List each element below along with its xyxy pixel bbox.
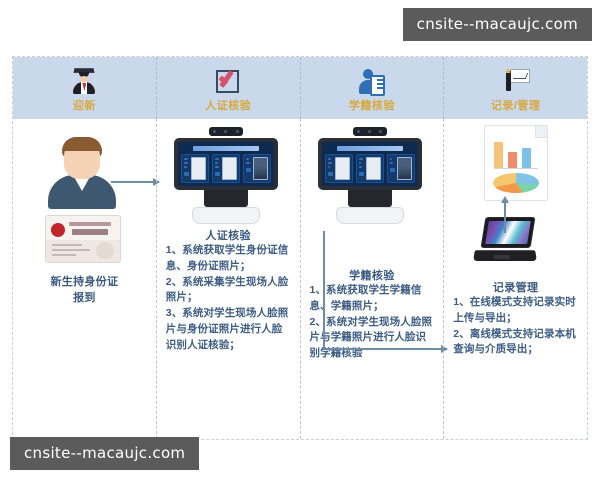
kiosk-screen bbox=[322, 142, 418, 186]
identity-verify-item: 3、系统对学生现场人脸照片与身份证照片进行人脸识别人证核验； bbox=[166, 306, 292, 353]
id-card bbox=[45, 215, 121, 263]
arrow-enrollment-to-record bbox=[323, 348, 447, 350]
laptop-keyboard bbox=[473, 250, 537, 261]
stage-header-identity: 人证核验 bbox=[156, 57, 300, 119]
kiosk-neck bbox=[204, 190, 248, 207]
person-clipboard-icon bbox=[359, 66, 385, 94]
report-bar bbox=[522, 148, 531, 168]
student-avatar bbox=[45, 137, 119, 209]
arrow-checkin-to-identity bbox=[111, 181, 159, 183]
record-management-title: 记录管理 bbox=[444, 279, 587, 295]
record-management-item: 1、在线模式支持记录实时上传与导出； bbox=[453, 295, 579, 327]
stage-header-enrollment: 学籍核验 bbox=[300, 57, 444, 119]
kiosk-terminal bbox=[174, 127, 278, 224]
enrollment-verify-item: 1、系统获取学生学籍信息、学籍照片； bbox=[310, 283, 436, 315]
report-bar bbox=[494, 142, 503, 168]
page-fold bbox=[535, 126, 547, 138]
report-pie-chart bbox=[493, 173, 539, 193]
laptop-screen bbox=[481, 217, 536, 248]
kiosk-screen bbox=[178, 142, 274, 186]
report-document bbox=[484, 125, 548, 201]
report-bar bbox=[508, 152, 517, 168]
graduate-icon bbox=[71, 66, 97, 94]
arrow-enrollment-down-segment bbox=[323, 231, 325, 350]
column-checkin: 新生持身份证报到 bbox=[13, 119, 156, 439]
checkin-caption: 新生持身份证报到 bbox=[13, 275, 156, 307]
stage-header-label: 人证核验 bbox=[205, 97, 251, 113]
column-identity-verify: 人证核验 1、系统获取学生身份证信息、身份证照片； 2、系统采集学生现场人脸照片… bbox=[156, 119, 300, 439]
record-management-item: 2、离线模式支持记录本机查询与介质导出； bbox=[453, 327, 579, 359]
column-record-management: 记录管理 1、在线模式支持记录实时上传与导出； 2、离线模式支持记录本机查询与介… bbox=[443, 119, 587, 439]
pen-notepad-icon bbox=[502, 66, 530, 94]
identity-verify-item: 2、系统采集学生现场人脸照片； bbox=[166, 275, 292, 307]
watermark-top: cnsite--macaujc.com bbox=[403, 8, 592, 41]
identity-verify-item: 1、系统获取学生身份证信息、身份证照片； bbox=[166, 243, 292, 275]
stage-header-welcome: 迎新 bbox=[13, 57, 156, 119]
stage-columns: 新生持身份证报到 bbox=[13, 119, 587, 439]
kiosk-base bbox=[192, 207, 260, 224]
checkbox-check-icon bbox=[215, 66, 241, 94]
report-bar-chart bbox=[494, 140, 538, 169]
stage-header-record: 记录/管理 bbox=[443, 57, 587, 119]
kiosk-base bbox=[336, 207, 404, 224]
enrollment-verify-item: 2、系统对学生现场人脸照片与学籍照片进行人脸识别学籍核验 bbox=[310, 315, 436, 362]
kiosk-camera bbox=[209, 127, 243, 136]
stage-header-label: 迎新 bbox=[73, 97, 96, 113]
column-enrollment-verify: 学籍核验 1、系统获取学生学籍信息、学籍照片； 2、系统对学生现场人脸照片与学籍… bbox=[300, 119, 444, 439]
stage-header-label: 记录/管理 bbox=[491, 97, 541, 113]
watermark-bottom: cnsite--macaujc.com bbox=[10, 437, 199, 470]
kiosk-camera bbox=[353, 127, 387, 136]
arrow-laptop-to-report bbox=[504, 203, 506, 233]
stage-header-band: 迎新 人证核验 学籍核验 记录/管理 bbox=[13, 57, 587, 119]
identity-verify-title: 人证核验 bbox=[157, 227, 300, 243]
process-flow-diagram: 迎新 人证核验 学籍核验 记录/管理 bbox=[12, 56, 588, 440]
kiosk-neck bbox=[348, 190, 392, 207]
kiosk-terminal bbox=[318, 127, 422, 224]
stage-header-label: 学籍核验 bbox=[349, 97, 395, 113]
